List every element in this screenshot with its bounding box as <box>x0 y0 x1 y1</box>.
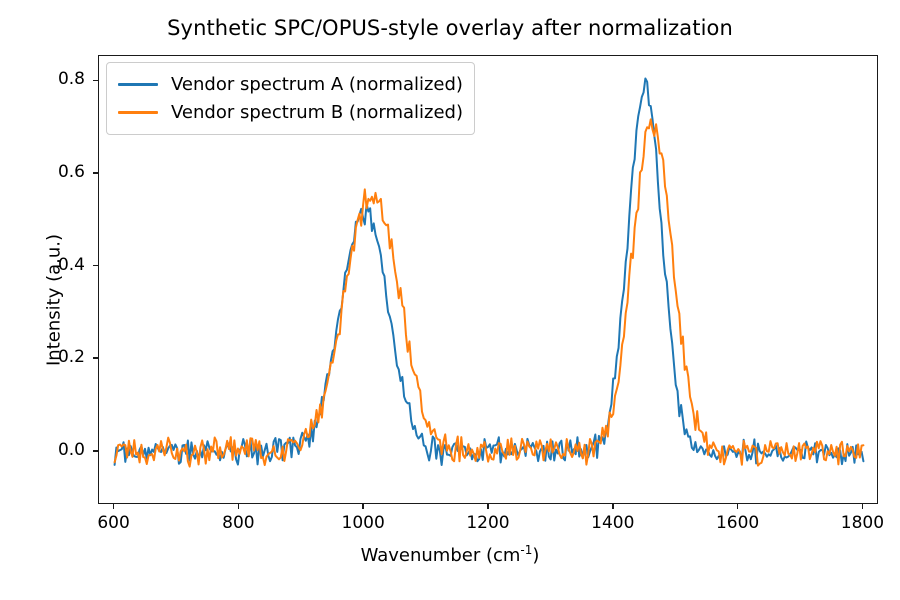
x-axis-label: Wavenumber (cm-1) <box>0 545 900 566</box>
chart-title: Synthetic SPC/OPUS-style overlay after n… <box>0 16 900 40</box>
x-tick-label: 800 <box>193 513 283 533</box>
x-tick-label: 1800 <box>817 513 900 533</box>
x-tick-mark <box>362 504 364 509</box>
x-tick-mark <box>113 504 115 509</box>
x-tick-label: 1600 <box>693 513 783 533</box>
x-tick-label: 1400 <box>568 513 658 533</box>
spectrum-line <box>115 119 864 466</box>
spectrum-line <box>115 79 864 465</box>
y-tick-mark <box>93 80 98 82</box>
x-tick-mark <box>737 504 739 509</box>
y-axis-label: Intensity (a.u.) <box>44 100 65 500</box>
x-tick-mark <box>612 504 614 509</box>
legend-item[interactable]: Vendor spectrum A (normalized) <box>118 70 463 98</box>
y-tick-mark <box>93 450 98 452</box>
x-tick-label: 600 <box>69 513 159 533</box>
y-tick-mark <box>93 265 98 267</box>
x-tick-mark <box>238 504 240 509</box>
figure-canvas: Synthetic SPC/OPUS-style overlay after n… <box>0 0 900 600</box>
y-tick-mark <box>93 172 98 174</box>
legend-swatch-series-b <box>118 111 158 114</box>
legend-item[interactable]: Vendor spectrum B (normalized) <box>118 98 463 126</box>
legend-swatch-series-a <box>118 83 158 86</box>
legend-label-series-a: Vendor spectrum A (normalized) <box>171 74 463 95</box>
x-tick-label: 1000 <box>318 513 408 533</box>
legend: Vendor spectrum A (normalized) Vendor sp… <box>106 62 475 135</box>
x-tick-label: 1200 <box>443 513 533 533</box>
y-axis-label-wrapper: Intensity (a.u.) <box>14 0 44 600</box>
x-tick-mark <box>862 504 864 509</box>
legend-label-series-b: Vendor spectrum B (normalized) <box>171 102 463 123</box>
y-tick-mark <box>93 357 98 359</box>
x-tick-mark <box>487 504 489 509</box>
